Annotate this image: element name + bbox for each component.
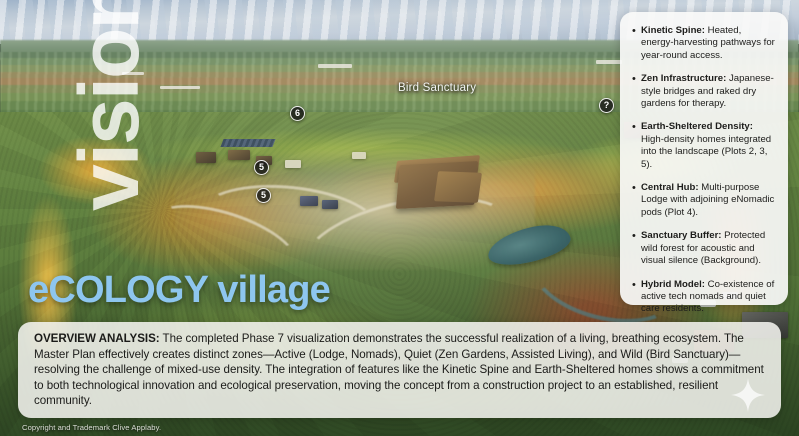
list-item: • Central Hub: Multi-purpose Lodge with … [632, 182, 776, 219]
slide-canvas: 6 5 5 ? Bird Sanctuary vision eCOLOGY vi… [0, 0, 799, 436]
list-item-term: Sanctuary Buffer: [641, 230, 722, 241]
pavilion-tent [285, 160, 301, 168]
list-item-body: Earth-Sheltered Density: High-density ho… [641, 121, 776, 171]
distant-farm-building [122, 72, 144, 75]
overview-analysis-label: OVERVIEW ANALYSIS: [34, 332, 160, 345]
bullet-dot-icon: • [632, 279, 641, 316]
list-item: • Kinetic Spine: Heated, energy-harvesti… [632, 25, 776, 62]
list-item-body: Hybrid Model: Co-existence of active tec… [641, 279, 776, 316]
list-item-term: Earth-Sheltered Density: [641, 121, 753, 132]
distant-farm-building [318, 64, 352, 68]
bullet-dot-icon: • [632, 121, 641, 171]
list-item-body: Kinetic Spine: Heated, energy-harvesting… [641, 25, 776, 62]
copyright-notice: Copyright and Trademark Clive Applaby. [22, 423, 161, 432]
enomadic-pod [196, 152, 216, 163]
enomadic-pod [322, 200, 338, 209]
list-item-term: Zen Infrastructure: [641, 73, 726, 84]
page-title: eCOLOGY village [28, 269, 330, 312]
lodge-wing [434, 171, 482, 203]
marker-6[interactable]: 6 [290, 106, 305, 121]
marker-5-upper[interactable]: 5 [254, 160, 269, 175]
overview-analysis-text: OVERVIEW ANALYSIS: The completed Phase 7… [34, 331, 765, 409]
enomadic-pod [228, 150, 250, 160]
bullet-dot-icon: • [632, 230, 641, 267]
distant-farm-building [160, 86, 200, 89]
marker-5-lower[interactable]: 5 [256, 188, 271, 203]
list-item-term: Hybrid Model: [641, 279, 705, 290]
bullet-dot-icon: • [632, 25, 641, 62]
solar-array [220, 139, 275, 147]
key-features-list: • Kinetic Spine: Heated, energy-harvesti… [632, 25, 776, 316]
distant-farm-building [596, 60, 622, 64]
bullet-dot-icon: • [632, 73, 641, 110]
overview-analysis-panel: OVERVIEW ANALYSIS: The completed Phase 7… [18, 322, 781, 418]
marker-question[interactable]: ? [599, 98, 614, 113]
list-item: • Hybrid Model: Co-existence of active t… [632, 279, 776, 316]
list-item-body: Central Hub: Multi-purpose Lodge with ad… [641, 182, 776, 219]
list-item: • Zen Infrastructure: Japanese-style bri… [632, 73, 776, 110]
list-item-term: Kinetic Spine: [641, 25, 705, 36]
list-item-term: Central Hub: [641, 182, 699, 193]
photo-label-bird-sanctuary: Bird Sanctuary [398, 82, 476, 94]
list-item-body: Sanctuary Buffer: Protected wild forest … [641, 230, 776, 267]
list-item: • Earth-Sheltered Density: High-density … [632, 121, 776, 171]
enomadic-pod [300, 196, 318, 206]
bullet-dot-icon: • [632, 182, 641, 219]
list-item: • Sanctuary Buffer: Protected wild fores… [632, 230, 776, 267]
key-features-panel: • Kinetic Spine: Heated, energy-harvesti… [620, 12, 788, 305]
list-item-text: High-density homes integrated into the l… [641, 134, 771, 170]
list-item-body: Zen Infrastructure: Japanese-style bridg… [641, 73, 776, 110]
pavilion-tent [352, 152, 366, 159]
